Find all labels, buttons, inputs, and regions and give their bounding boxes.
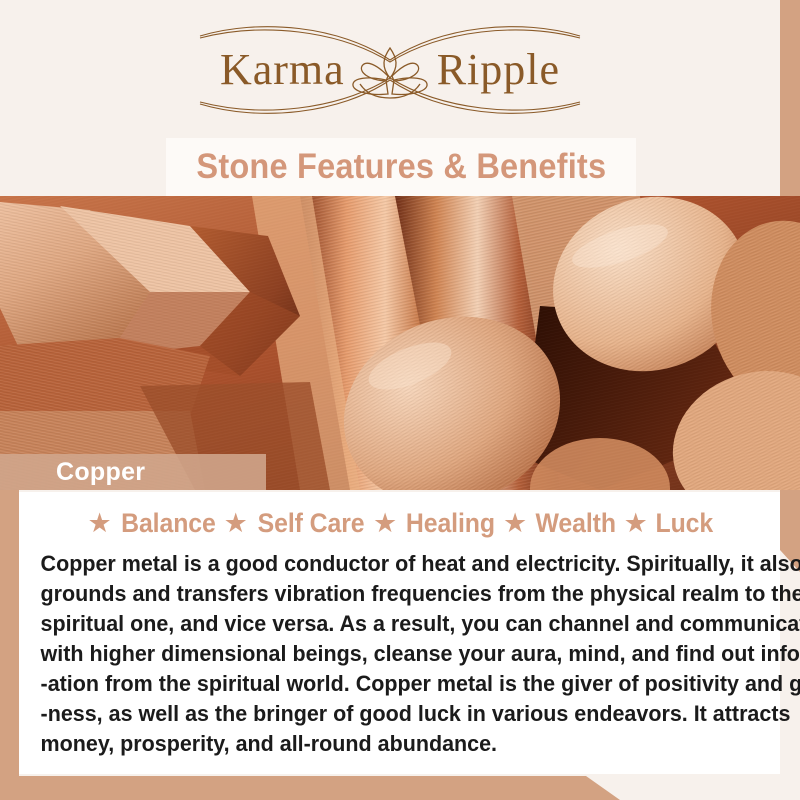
frame-left-accent <box>0 488 19 800</box>
hero-label: Copper <box>56 458 145 487</box>
description-line: Copper metal is a good conductor of heat… <box>41 549 730 579</box>
page-title: Stone Features & Benefits <box>196 147 606 187</box>
benefit-item-healing: ★ Healing <box>369 508 499 539</box>
description-text: Copper metal is a good conductor of heat… <box>31 549 735 759</box>
benefit-item-self-care: ★ Self Care <box>220 508 369 539</box>
brand-name-right: Ripple <box>437 48 560 92</box>
hero-image: Copper <box>0 196 800 490</box>
benefit-label: Healing <box>406 508 495 539</box>
description-line: with higher dimensional beings, cleanse … <box>41 639 730 669</box>
star-icon: ★ <box>88 510 112 537</box>
description-line: money, prosperity, and all-round abundan… <box>41 729 730 759</box>
star-icon: ★ <box>373 510 397 537</box>
star-icon: ★ <box>624 510 648 537</box>
content-panel: ★ Balance ★ Self Care ★ Healing ★ Wealth… <box>19 492 780 774</box>
section-title-band: Stone Features & Benefits <box>166 138 636 196</box>
star-icon: ★ <box>224 510 248 537</box>
benefit-label: Wealth <box>536 508 616 539</box>
benefit-item-luck: ★ Luck <box>620 508 716 539</box>
benefit-label: Luck <box>655 508 713 539</box>
star-icon: ★ <box>503 510 527 537</box>
frame-bottom-left-accent <box>0 776 620 800</box>
brand-header: Karma Ripple <box>0 0 780 140</box>
benefits-list: ★ Balance ★ Self Care ★ Healing ★ Wealth… <box>31 508 768 539</box>
description-line: spiritual one, and vice versa. As a resu… <box>41 609 730 639</box>
benefit-item-wealth: ★ Wealth <box>499 508 620 539</box>
benefit-label: Balance <box>121 508 216 539</box>
copper-bars-illustration <box>0 196 800 490</box>
brand-name-left: Karma <box>220 48 345 92</box>
description-line: -ness, as well as the bringer of good lu… <box>41 699 730 729</box>
brand-logo: Karma Ripple <box>140 22 640 118</box>
hero-label-bar: Copper <box>0 454 266 490</box>
description-line: -ation from the spiritual world. Copper … <box>41 669 730 699</box>
benefit-label: Self Care <box>257 508 364 539</box>
benefit-item-balance: ★ Balance <box>84 508 220 539</box>
description-line: grounds and transfers vibration frequenc… <box>41 579 730 609</box>
